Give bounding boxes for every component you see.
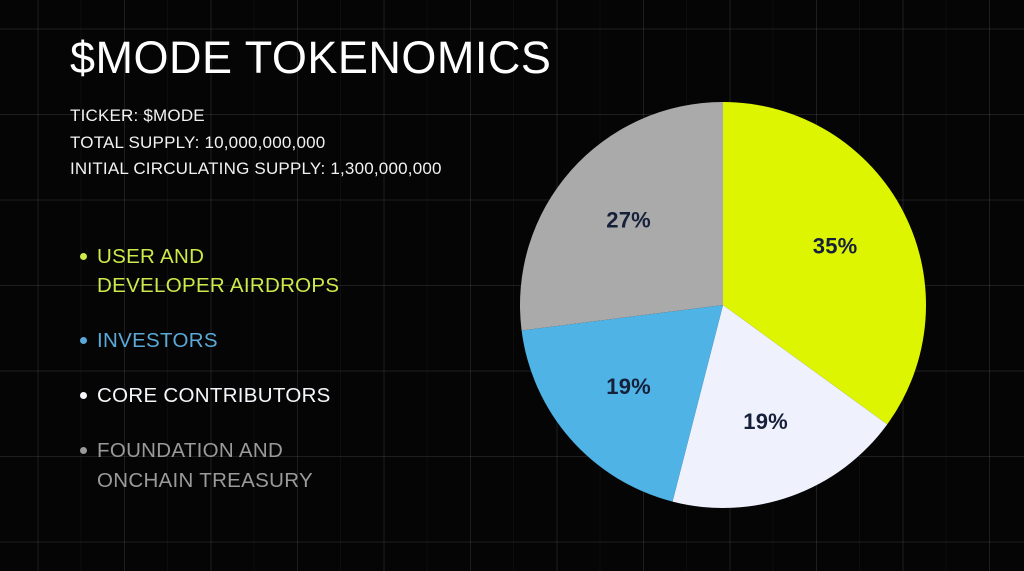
pie-chart: 35%19%19%27% — [520, 102, 926, 508]
pie-slice-label: 19% — [606, 374, 651, 399]
bullet-dot-icon — [80, 253, 87, 260]
legend-item-label: FOUNDATION ANDONCHAIN TREASURY — [97, 436, 313, 494]
legend-item[interactable]: USER ANDDEVELOPER AIRDROPS — [80, 242, 480, 300]
stat-line: INITIAL CIRCULATING SUPPLY: 1,300,000,00… — [70, 156, 500, 182]
pie-chart-svg: 35%19%19%27% — [520, 102, 926, 508]
bullet-dot-icon — [80, 337, 87, 344]
stat-line: TICKER: $MODE — [70, 103, 500, 129]
legend-item[interactable]: FOUNDATION ANDONCHAIN TREASURY — [80, 436, 480, 494]
legend-item[interactable]: CORE CONTRIBUTORS — [80, 381, 480, 410]
page-title: $MODE TOKENOMICS — [70, 34, 500, 81]
pie-slice-label: 35% — [813, 234, 858, 259]
left-column: $MODE TOKENOMICS TICKER: $MODETOTAL SUPP… — [70, 34, 500, 182]
stat-line: TOTAL SUPPLY: 10,000,000,000 — [70, 130, 500, 156]
bullet-dot-icon — [80, 447, 87, 454]
legend-item[interactable]: INVESTORS — [80, 326, 480, 355]
pie-slice-label: 19% — [743, 409, 788, 434]
bullet-dot-icon — [80, 392, 87, 399]
legend-item-label: USER ANDDEVELOPER AIRDROPS — [97, 242, 339, 300]
legend: USER ANDDEVELOPER AIRDROPSINVESTORSCORE … — [80, 242, 480, 495]
legend-item-label: INVESTORS — [97, 326, 218, 355]
pie-slice-label: 27% — [606, 208, 651, 233]
tokenomics-slide: $MODE TOKENOMICS TICKER: $MODETOTAL SUPP… — [0, 0, 1024, 571]
legend-item-label: CORE CONTRIBUTORS — [97, 381, 331, 410]
stats-block: TICKER: $MODETOTAL SUPPLY: 10,000,000,00… — [70, 103, 500, 182]
